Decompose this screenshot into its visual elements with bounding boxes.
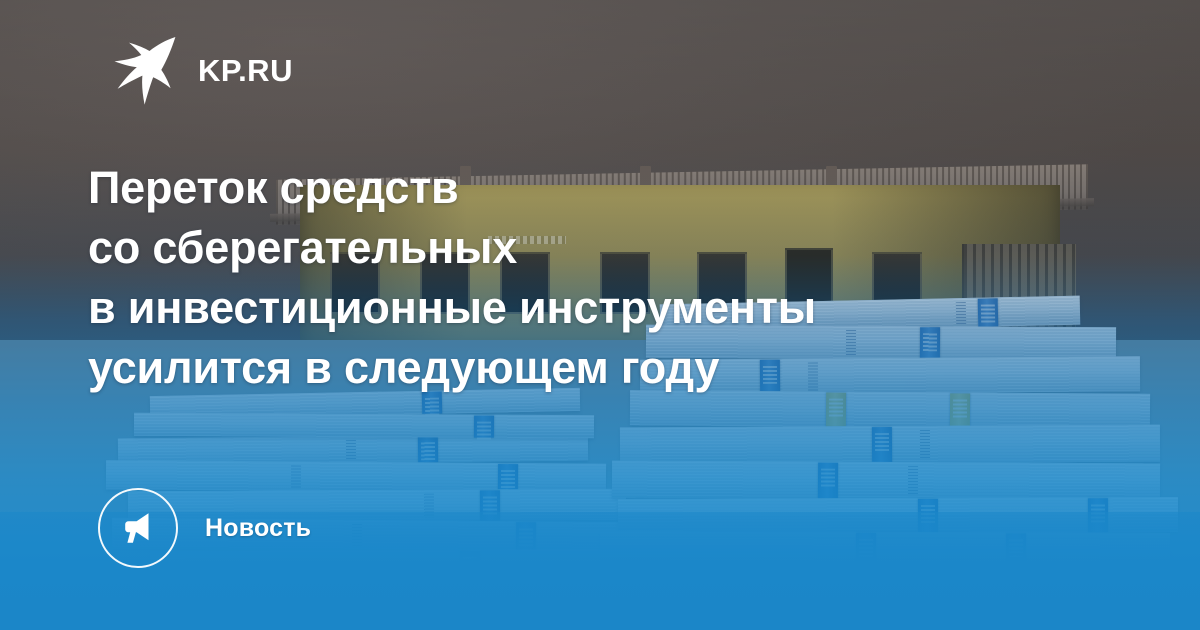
brand-lockup[interactable]: KP.RU bbox=[112, 34, 293, 106]
social-share-card: KP.RU Переток средств со сберегательных … bbox=[0, 0, 1200, 630]
headline-line-3: в инвестиционные инструменты bbox=[88, 278, 1108, 338]
brand-wordmark: KP.RU bbox=[198, 55, 293, 86]
swallow-bird-icon bbox=[112, 34, 178, 106]
headline-line-4: усилится в следующем году bbox=[88, 338, 1108, 398]
megaphone-icon bbox=[98, 488, 178, 568]
headline-line-2: со сберегательных bbox=[88, 218, 1108, 278]
card-content: KP.RU Переток средств со сберегательных … bbox=[0, 0, 1200, 630]
category-badge[interactable]: Новость bbox=[98, 488, 311, 568]
category-badge-label: Новость bbox=[205, 514, 311, 543]
page-title: Переток средств со сберегательных в инве… bbox=[88, 158, 1108, 398]
headline-line-1: Переток средств bbox=[88, 158, 1108, 218]
